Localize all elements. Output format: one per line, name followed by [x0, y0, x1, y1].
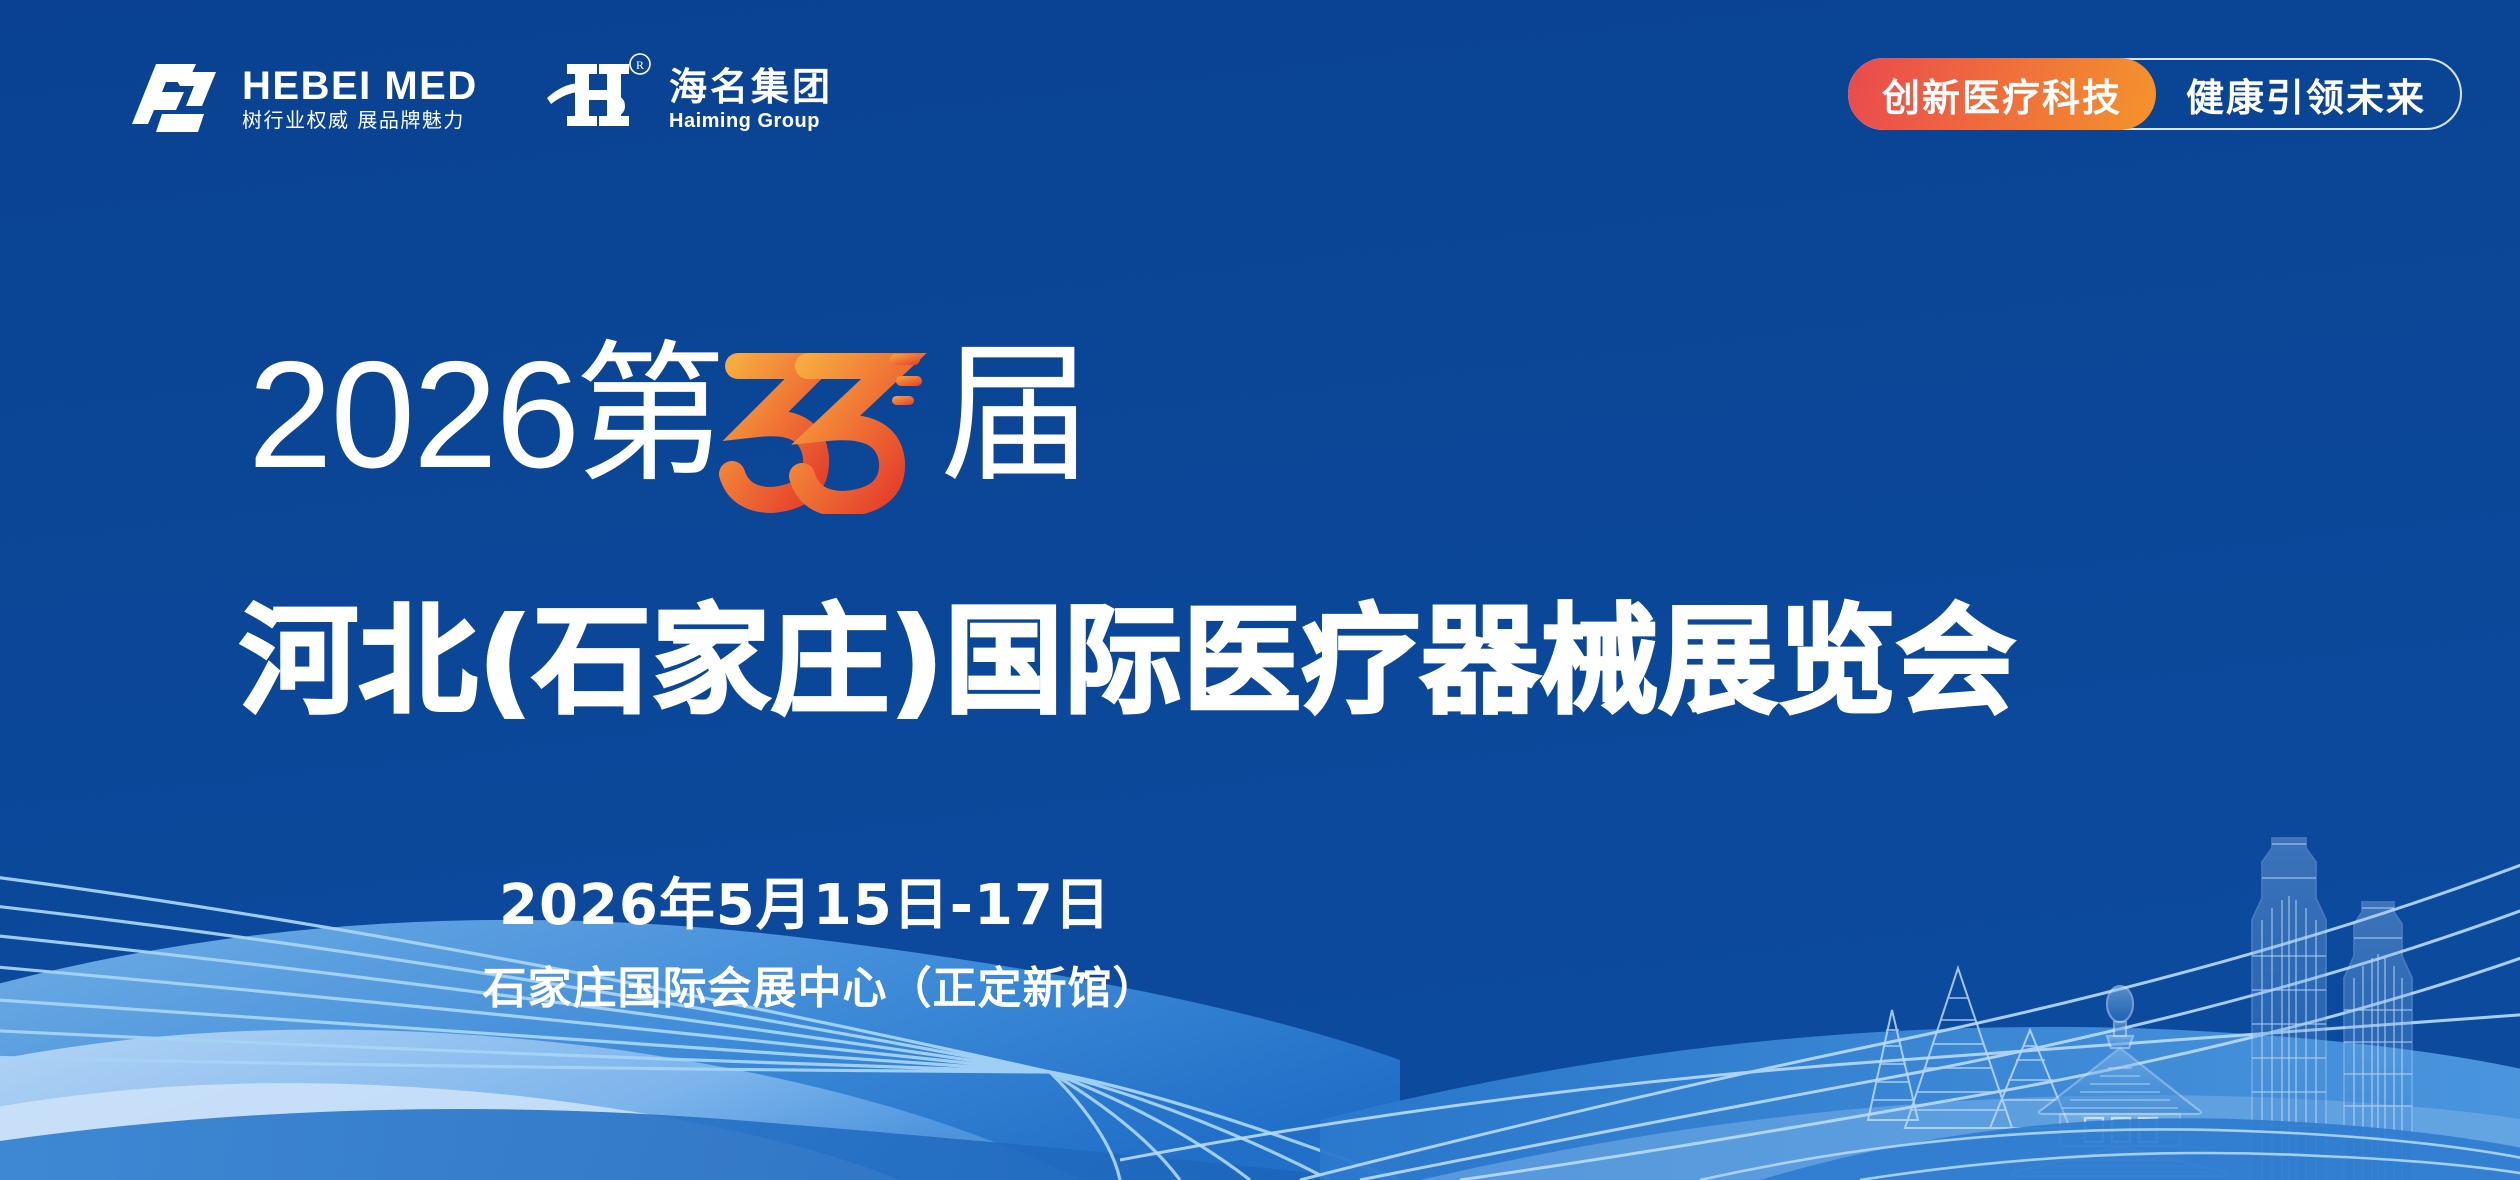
- hebei-med-logo: HEBEI MED 树行业权威 展品牌魅力: [132, 62, 478, 134]
- haiming-h-monogram-icon: R: [545, 50, 655, 140]
- exhibition-date-text: 2026年5月15日-17日: [499, 860, 1111, 941]
- hebei-med-tagline: 树行业权威 展品牌魅力: [242, 110, 478, 130]
- slogan-badge: 创新医疗科技 健康引领未来: [1848, 58, 2462, 130]
- edition-line: 2026 第 届: [248, 330, 1092, 500]
- exhibition-title: 河北(石家庄)国际医疗器械展览会: [240, 600, 2016, 724]
- edition-jie-char: 届: [940, 339, 1092, 491]
- haiming-group-logo: R 海名集团 Haiming Group: [545, 50, 833, 140]
- banner-header: HEBEI MED 树行业权威 展品牌魅力 R 海名集团 Haiming Gro…: [0, 0, 2520, 170]
- exhibition-venue: 石家庄国际会展中心（正定新馆）: [0, 952, 2520, 1016]
- haiming-group-english-name: Haiming Group: [669, 111, 833, 131]
- slogan-pill-text: 创新医疗科技: [1848, 58, 2156, 130]
- slogan-plain-text: 健康引领未来: [2156, 60, 2460, 128]
- edition-di-char: 第: [574, 339, 726, 491]
- edition-year: 2026: [248, 339, 578, 491]
- hebei-med-english-name: HEBEI MED: [242, 66, 478, 106]
- haiming-group-chinese-name: 海名集团: [669, 68, 833, 106]
- exhibition-venue-text: 石家庄国际会展中心（正定新馆）: [483, 952, 1158, 1016]
- edition-number-33-logo: [712, 324, 942, 514]
- exhibition-date: 2026年5月15日-17日: [0, 860, 2520, 941]
- hebei-h-monogram-icon: [132, 62, 224, 134]
- event-banner: HEBEI MED 树行业权威 展品牌魅力 R 海名集团 Haiming Gro…: [0, 0, 2520, 1180]
- svg-text:R: R: [636, 58, 644, 72]
